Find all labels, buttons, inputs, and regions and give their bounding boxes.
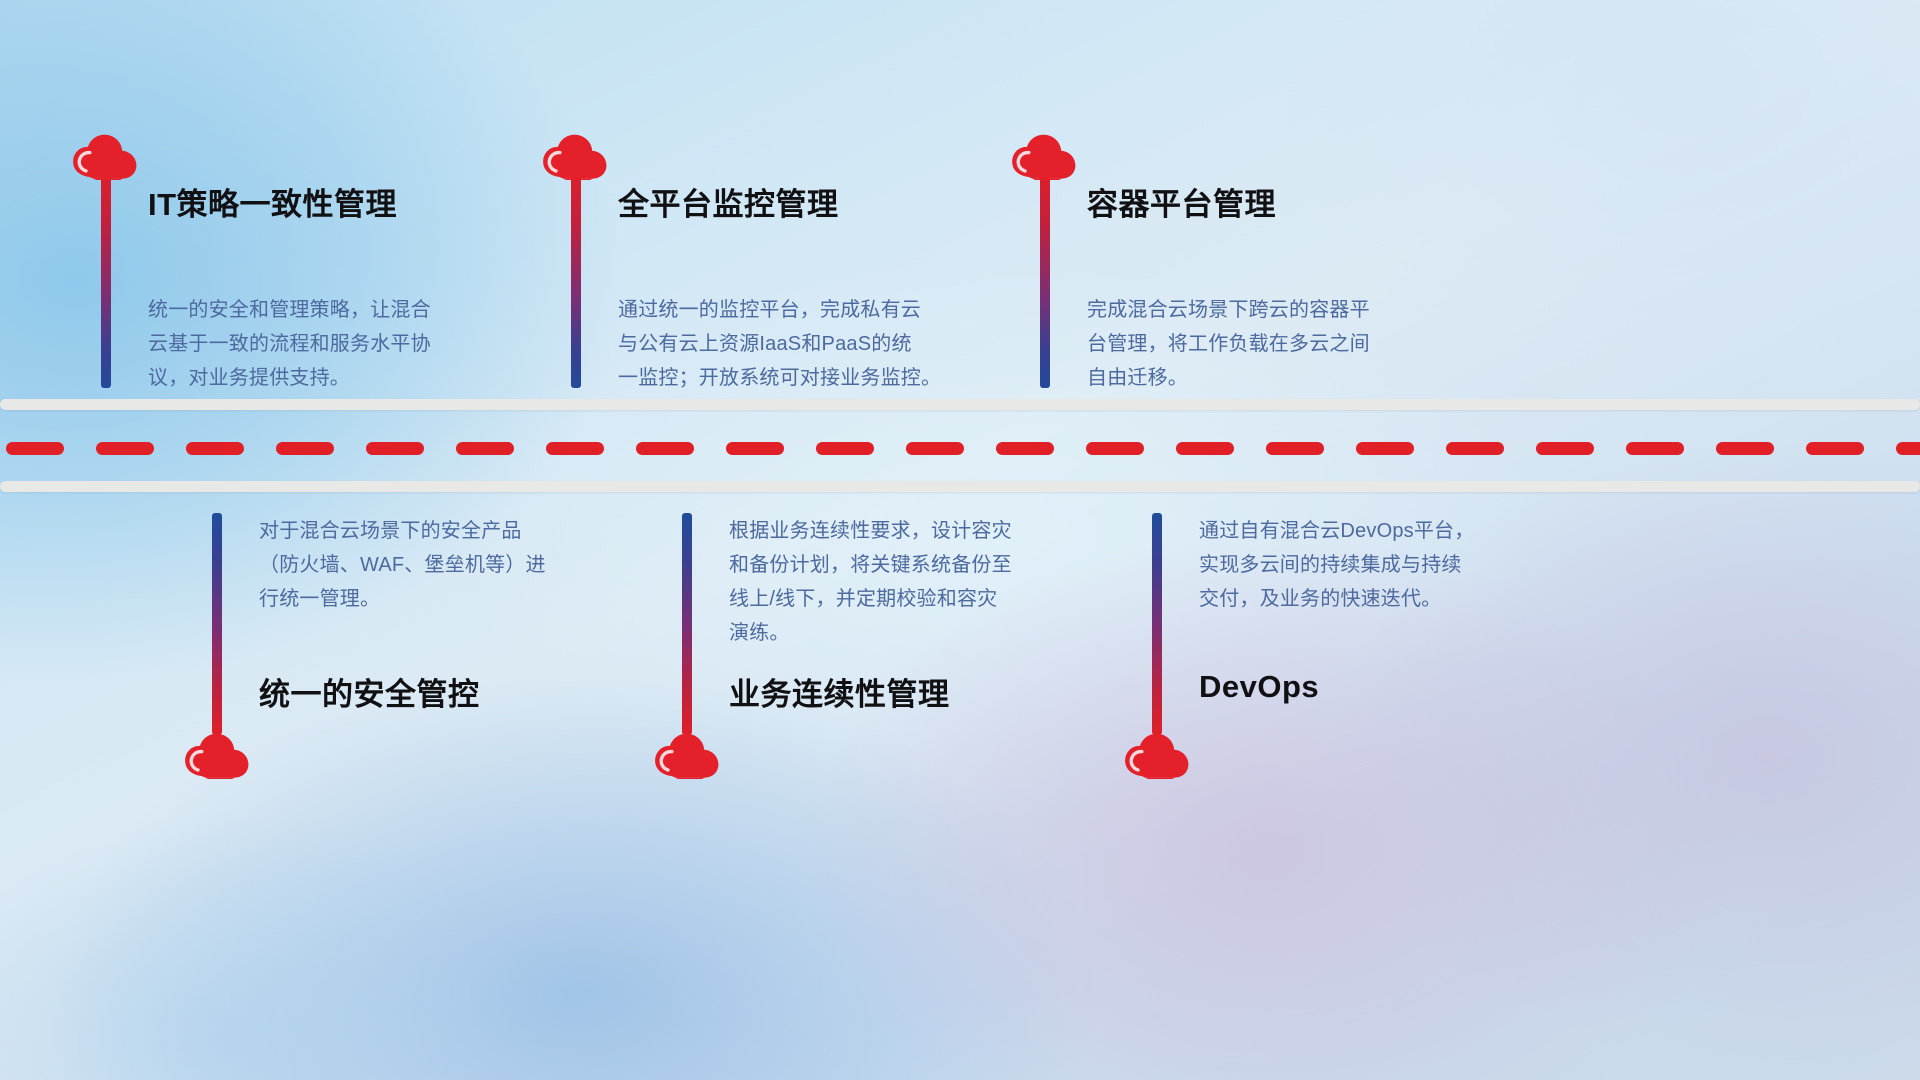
cloud-pin-icon [654, 729, 720, 779]
bottom-marker-2-title: 业务连续性管理 [729, 669, 950, 714]
cloud-pin-icon [542, 130, 608, 180]
top-marker-2-stem [571, 166, 581, 388]
bottom-marker-3-stem [1152, 513, 1162, 735]
road-dash-segment [1356, 442, 1414, 455]
bottom-marker-2-stem [682, 513, 692, 735]
road-dash-segment [366, 442, 424, 455]
bottom-marker-2-description: 根据业务连续性要求，设计容灾 和备份计划，将关键系统备份至 线上/线下，并定期校… [729, 514, 1099, 650]
road-dash-segment [1806, 442, 1864, 455]
top-marker-1-description: 统一的安全和管理策略，让混合 云基于一致的流程和服务水平协 议，对业务提供支持。 [148, 293, 508, 395]
top-marker-1-title: IT策略一致性管理 [148, 179, 397, 224]
road-dash-segment [96, 442, 154, 455]
road-dash-segment [1176, 442, 1234, 455]
road-dash-segment [1446, 442, 1504, 455]
bottom-marker-1-description: 对于混合云场景下的安全产品 （防火墙、WAF、堡垒机等）进 行统一管理。 [259, 514, 629, 616]
bottom-marker-3-title: DevOps [1199, 669, 1319, 705]
bottom-marker-1-title: 统一的安全管控 [259, 669, 480, 714]
road-line-upper [0, 399, 1920, 410]
top-marker-2-title: 全平台监控管理 [618, 179, 839, 224]
road-dash-segment [996, 442, 1054, 455]
top-marker-3-description: 完成混合云场景下跨云的容器平 台管理，将工作负载在多云之间 自由迁移。 [1087, 293, 1467, 395]
road-dash-segment [1086, 442, 1144, 455]
top-marker-3-stem [1040, 166, 1050, 388]
road-dash-segment [186, 442, 244, 455]
road-dash-segment [276, 442, 334, 455]
road-dash-segment [906, 442, 964, 455]
top-marker-3-title: 容器平台管理 [1087, 179, 1276, 224]
road-dash-segment [1626, 442, 1684, 455]
cloud-pin-icon [1124, 729, 1190, 779]
road-line-lower [0, 481, 1920, 492]
road-dash-segment [636, 442, 694, 455]
road-dash-segment [1716, 442, 1774, 455]
top-marker-1-stem [101, 166, 111, 388]
road-dash-segment [1896, 442, 1920, 455]
cloud-pin-icon [72, 130, 138, 180]
road-dash-segment [456, 442, 514, 455]
road-dash-segment [1536, 442, 1594, 455]
bottom-marker-1-stem [212, 513, 222, 735]
road-dash-segment [816, 442, 874, 455]
bottom-marker-3-description: 通过自有混合云DevOps平台， 实现多云间的持续集成与持续 交付，及业务的快速… [1199, 514, 1569, 616]
road-dash-segment [726, 442, 784, 455]
road-dash-segment [546, 442, 604, 455]
road-dash-segment [1266, 442, 1324, 455]
cloud-pin-icon [184, 729, 250, 779]
infographic-canvas: IT策略一致性管理 统一的安全和管理策略，让混合 云基于一致的流程和服务水平协 … [0, 0, 1920, 1080]
road-dash-segment [6, 442, 64, 455]
top-marker-2-description: 通过统一的监控平台，完成私有云 与公有云上资源IaaS和PaaS的统 一监控；开… [618, 293, 1018, 395]
road-center-dashes [0, 441, 1920, 455]
cloud-pin-icon [1011, 130, 1077, 180]
